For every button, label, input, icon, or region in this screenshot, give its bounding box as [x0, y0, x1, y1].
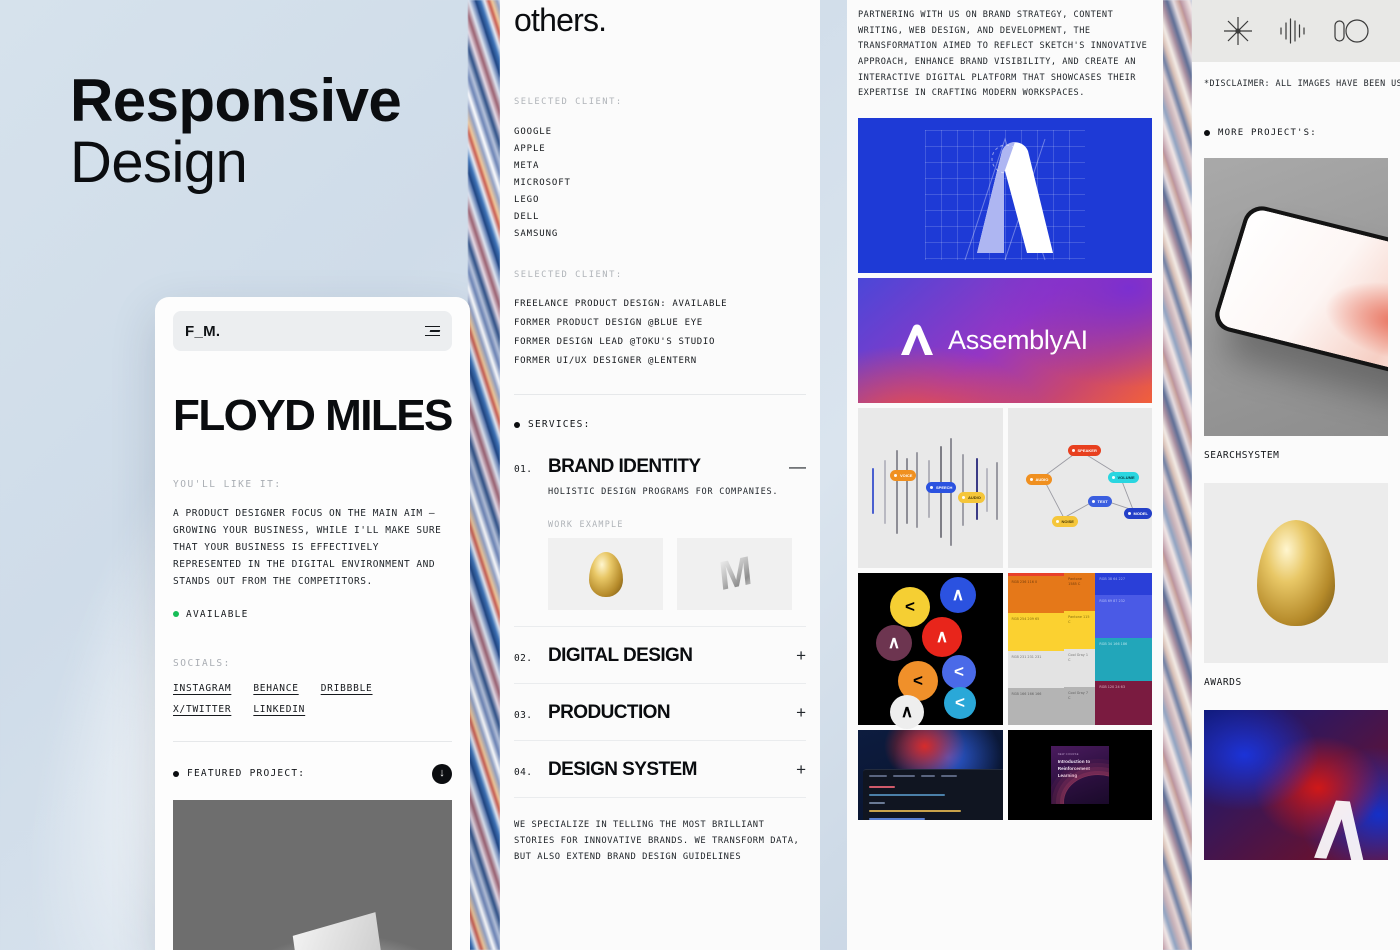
- intro-label: YOU'LL LIKE IT:: [173, 479, 452, 490]
- assemblyai-a-logo-icon: [905, 125, 1105, 265]
- node-graph-edges: [1008, 408, 1152, 562]
- accordion-header[interactable]: 03. PRODUCTION +: [514, 702, 806, 724]
- accordion-item-production[interactable]: 03. PRODUCTION +: [514, 684, 806, 741]
- project-label-searchsystem: SEARCHSYSTEM: [1204, 450, 1388, 461]
- pantone-name: Pantone 115 C: [1068, 615, 1091, 625]
- assemblyai-wordmark-text: AssemblyAI: [948, 325, 1088, 356]
- node-pill-text: TEXT: [1088, 496, 1112, 507]
- swatch-primary: RGB 236 116 0: [1008, 576, 1065, 613]
- accordion-item-design-system[interactable]: 04. DESIGN SYSTEM +: [514, 741, 806, 798]
- chromatic-ribbon-left: [468, 0, 500, 950]
- project-thumb-awards[interactable]: [1204, 483, 1388, 663]
- swatch-spec: RGB 166 166 166: [1012, 692, 1061, 697]
- divider: [514, 394, 806, 395]
- heading-tail: others.: [514, 0, 806, 39]
- swatch-royal-blue: RGB 69 87 232: [1095, 595, 1152, 638]
- reinforcement-learning-card: NEW COURSE Introduction to Reinforcement…: [1051, 746, 1109, 804]
- golden-egg-icon: [1257, 520, 1335, 626]
- logo-circle-blue: ∧: [940, 577, 976, 613]
- swatch-spec: RGB 120 24 63: [1099, 685, 1148, 690]
- expand-icon[interactable]: +: [796, 763, 806, 777]
- page-title-line-1: Responsive: [70, 72, 401, 131]
- pantone-gray7: Cool Gray 7 C: [1064, 687, 1095, 725]
- golden-egg-icon: [589, 552, 623, 597]
- project-thumb-next[interactable]: ∧: [1204, 710, 1388, 860]
- accordion-item-digital-design[interactable]: 02. DIGITAL DESIGN +: [514, 627, 806, 684]
- brand-case-panel: PARTNERING WITH US ON BRAND STRATEGY, CO…: [847, 0, 1163, 950]
- status-text: AVAILABLE: [186, 609, 249, 620]
- accordion-title: PRODUCTION: [548, 702, 796, 724]
- intro-copy: A PRODUCT DESIGNER FOCUS ON THE MAIN AIM…: [173, 506, 452, 591]
- bullet-dot-icon: [514, 422, 520, 428]
- socials-list: INSTAGRAM BEHANCE DRIBBBLE X/TWITTER LIN…: [173, 683, 452, 715]
- waveform-pill-voice: VOICE: [890, 470, 916, 481]
- assemblyai-wordmark-image[interactable]: AssemblyAI: [858, 278, 1152, 403]
- clients-label: SELECTED CLIENT:: [514, 97, 806, 107]
- phone-mockup-thumb: [1211, 202, 1388, 387]
- work-example-thumb-egg[interactable]: [548, 538, 663, 610]
- more-projects-panel: *DISCLAIMER: ALL IMAGES HAVE BEEN USED O…: [1192, 0, 1400, 950]
- node-pill-model: MODEL: [1124, 508, 1152, 519]
- list-item: MICROSOFT: [514, 174, 806, 191]
- metal-letter-icon: M: [717, 548, 752, 599]
- project-thumb-searchsystem[interactable]: [1204, 158, 1388, 436]
- collapse-icon[interactable]: —: [789, 460, 806, 474]
- social-link-x-twitter[interactable]: X/TWITTER: [173, 704, 231, 715]
- phone-mockup-panel: F_M. FLOYD MILES YOU'LL LIKE IT: A PRODU…: [155, 297, 470, 950]
- list-item: APPLE: [514, 140, 806, 157]
- swatch-column-warm: RGB 236 116 0 RGB 254 209 65 RGB 231 231…: [1008, 573, 1065, 725]
- asterisk-icon[interactable]: [1221, 14, 1255, 48]
- swatch-spec: RGB 34 166 186: [1099, 642, 1148, 647]
- assemblyai-mark-icon: [898, 321, 936, 359]
- color-swatch-specs[interactable]: RGB 236 116 0 RGB 254 209 65 RGB 231 231…: [1008, 573, 1153, 725]
- disclaimer-text: *DISCLAIMER: ALL IMAGES HAVE BEEN USED O…: [1204, 76, 1388, 92]
- status-badge: AVAILABLE: [173, 609, 452, 620]
- icon-strip: [1192, 0, 1400, 62]
- accordion-number: 04.: [514, 767, 548, 778]
- list-item: SAMSUNG: [514, 225, 806, 242]
- status-dot-icon: [173, 611, 179, 617]
- course-card-image[interactable]: NEW COURSE Introduction to Reinforcement…: [1008, 730, 1153, 820]
- more-projects-header: MORE PROJECT'S:: [1204, 128, 1388, 138]
- waveform-pill-speech: SPEECH: [926, 482, 956, 493]
- node-graph-diagram[interactable]: SPEAKER AUDIO VOLUME TEXT MODEL NOISE: [1008, 408, 1153, 568]
- work-example-label: WORK EXAMPLE: [548, 519, 806, 529]
- list-item: LEGO: [514, 191, 806, 208]
- divider: [173, 741, 452, 742]
- brand-case-copy: PARTNERING WITH US ON BRAND STRATEGY, CO…: [847, 0, 1163, 118]
- developer-portrait-image[interactable]: [858, 730, 1003, 820]
- social-link-dribbble[interactable]: DRIBBBLE: [321, 683, 373, 694]
- brand-diagram-row: VOICE SPEECH AUDIO SPEAKER AUDIO VOLUME …: [858, 408, 1152, 568]
- phone-screen: [1216, 207, 1388, 382]
- phone-navbar: F_M.: [173, 311, 452, 351]
- swatch-spec: RGB 254 209 65: [1012, 617, 1061, 622]
- chromatic-ribbon-right: [1162, 0, 1192, 950]
- clients-list: GOOGLE APPLE META MICROSOFT LEGO DELL SA…: [514, 123, 806, 242]
- swatch-spec: RGB 38 64 227: [1099, 577, 1148, 582]
- product-shape-a: [292, 912, 385, 950]
- more-projects-label: MORE PROJECT'S:: [1218, 128, 1317, 138]
- featured-project-title: FEATURED PROJECT:: [173, 768, 305, 779]
- pantone-yellow: Pantone 115 C: [1064, 611, 1095, 649]
- pantone-name: Pantone 1585 C: [1068, 577, 1091, 587]
- node-pill-volume: VOLUME: [1108, 472, 1139, 483]
- list-item: DELL: [514, 208, 806, 225]
- chevron-logo-icon: ∧: [1302, 775, 1379, 859]
- accordion-number: 02.: [514, 653, 548, 664]
- pantone-name: Cool Gray 7 C: [1068, 691, 1091, 701]
- swatch-spec: RGB 236 116 0: [1012, 580, 1061, 585]
- accordion-title: DESIGN SYSTEM: [548, 759, 796, 781]
- node-pill-audio: AUDIO: [1026, 474, 1053, 485]
- code-editor-window: [863, 769, 1003, 819]
- accordion-number: 03.: [514, 710, 548, 721]
- experience-label: SELECTED CLIENT:: [514, 270, 806, 280]
- featured-project-label: FEATURED PROJECT:: [187, 768, 305, 779]
- pantone-name: Cool Gray 1 C: [1068, 653, 1091, 663]
- work-example-grid: M: [548, 538, 806, 610]
- download-arrow-icon[interactable]: ↓: [432, 764, 452, 784]
- swatch-column-pantone: Pantone 1585 C Pantone 115 C Cool Gray 1…: [1064, 573, 1095, 725]
- services-section-title: SERVICES:: [514, 419, 806, 430]
- swatch-energy-yellow: RGB 254 209 65: [1008, 613, 1065, 650]
- logo-circle-cyan: <: [944, 687, 976, 719]
- accordion-header[interactable]: 04. DESIGN SYSTEM +: [514, 759, 806, 781]
- services-tail-copy: WE SPECIALIZE IN TELLING THE MOST BRILLI…: [514, 818, 806, 865]
- pantone-gray1: Cool Gray 1 C: [1064, 649, 1095, 687]
- brand-media-stack: AssemblyAI VOICE SPEECH: [847, 118, 1163, 820]
- page-title-line-2: Design: [70, 135, 401, 192]
- swatch-cyan-pacific: RGB 34 166 186: [1095, 638, 1152, 681]
- logo-circle-plum: ∧: [876, 625, 912, 661]
- services-label: SERVICES:: [528, 419, 591, 430]
- accordion-item-brand-identity[interactable]: 01. BRAND IDENTITY — HOLISTIC DESIGN PRO…: [514, 430, 806, 627]
- accordion-subtitle: HOLISTIC DESIGN PROGRAMS FOR COMPANIES.: [548, 487, 806, 497]
- swatch-column-cool: RGB 38 64 227 RGB 69 87 232 RGB 34 166 1…: [1095, 573, 1152, 725]
- project-label-awards: AWARDS: [1204, 677, 1388, 688]
- logo-circle-yellow: <: [890, 587, 930, 627]
- social-link-behance[interactable]: BEHANCE: [253, 683, 298, 694]
- brand-logo[interactable]: F_M.: [185, 323, 220, 340]
- social-link-instagram[interactable]: INSTAGRAM: [173, 683, 231, 694]
- list-item: FREELANCE PRODUCT DESIGN: AVAILABLE: [514, 294, 806, 313]
- accordion-header[interactable]: 02. DIGITAL DESIGN +: [514, 645, 806, 667]
- waveform-diagram[interactable]: VOICE SPEECH AUDIO: [858, 408, 1003, 568]
- socials-label: SOCIALS:: [173, 658, 452, 669]
- logo-construction-image[interactable]: [858, 118, 1152, 273]
- logo-circle-red: ∧: [922, 617, 962, 657]
- designer-name: FLOYD MILES: [173, 391, 452, 441]
- accordion-title: BRAND IDENTITY: [548, 456, 789, 478]
- expand-icon[interactable]: +: [796, 706, 806, 720]
- bullet-dot-icon: [1204, 130, 1210, 136]
- waveform-icon[interactable]: [1276, 14, 1310, 48]
- accordion-title: DIGITAL DESIGN: [548, 645, 796, 667]
- list-item: FORMER PRODUCT DESIGN @BLUE EYE: [514, 313, 806, 332]
- experience-list: FREELANCE PRODUCT DESIGN: AVAILABLE FORM…: [514, 294, 806, 370]
- accordion-number: 01.: [514, 464, 548, 475]
- services-panel: others. SELECTED CLIENT: GOOGLE APPLE ME…: [500, 0, 820, 950]
- expand-icon[interactable]: +: [796, 649, 806, 663]
- course-kicker: NEW COURSE: [1058, 753, 1102, 756]
- featured-project-header: FEATURED PROJECT: ↓: [173, 764, 452, 784]
- logo-circle-royal: <: [942, 655, 976, 689]
- list-item: FORMER UI/UX DESIGNER @LENTERN: [514, 351, 806, 370]
- pill-circle-icon[interactable]: [1331, 14, 1371, 48]
- brand-screens-row: NEW COURSE Introduction to Reinforcement…: [858, 730, 1152, 820]
- bullet-dot-icon: [173, 771, 179, 777]
- swatch-spec: RGB 69 87 232: [1099, 599, 1148, 604]
- swatch-paprika: RGB 120 24 63: [1095, 681, 1152, 724]
- social-link-linkedin[interactable]: LINKEDIN: [253, 704, 305, 715]
- list-item: GOOGLE: [514, 123, 806, 140]
- logo-circle-white: ∧: [890, 695, 924, 729]
- pantone-primary: Pantone 1585 C: [1064, 573, 1095, 611]
- list-item: META: [514, 157, 806, 174]
- waveform-pill-audio: AUDIO: [958, 492, 985, 503]
- featured-project-image[interactable]: [173, 800, 452, 950]
- page-title: Responsive Design: [70, 72, 401, 192]
- work-example-thumb-letter[interactable]: M: [677, 538, 792, 610]
- node-pill-speaker: SPEAKER: [1068, 445, 1101, 456]
- hamburger-icon[interactable]: [425, 326, 440, 337]
- logo-variants-image[interactable]: < ∧ ∧ ∧ < < < ∧: [858, 573, 1003, 725]
- brand-assets-row: < ∧ ∧ ∧ < < < ∧ RGB 236 116 0 RGB 254 20…: [858, 573, 1152, 725]
- node-pill-noise: NOISE: [1052, 516, 1078, 527]
- swatch-ello: RGB 231 231 231: [1008, 651, 1065, 688]
- list-item: FORMER DESIGN LEAD @TOKU'S STUDIO: [514, 332, 806, 351]
- accordion-header[interactable]: 01. BRAND IDENTITY —: [514, 456, 806, 478]
- swatch-spec: RGB 231 231 231: [1012, 655, 1061, 660]
- swatch-blue-ribbon: RGB 38 64 227: [1095, 573, 1152, 595]
- swatch-silver: RGB 166 166 166: [1008, 688, 1065, 725]
